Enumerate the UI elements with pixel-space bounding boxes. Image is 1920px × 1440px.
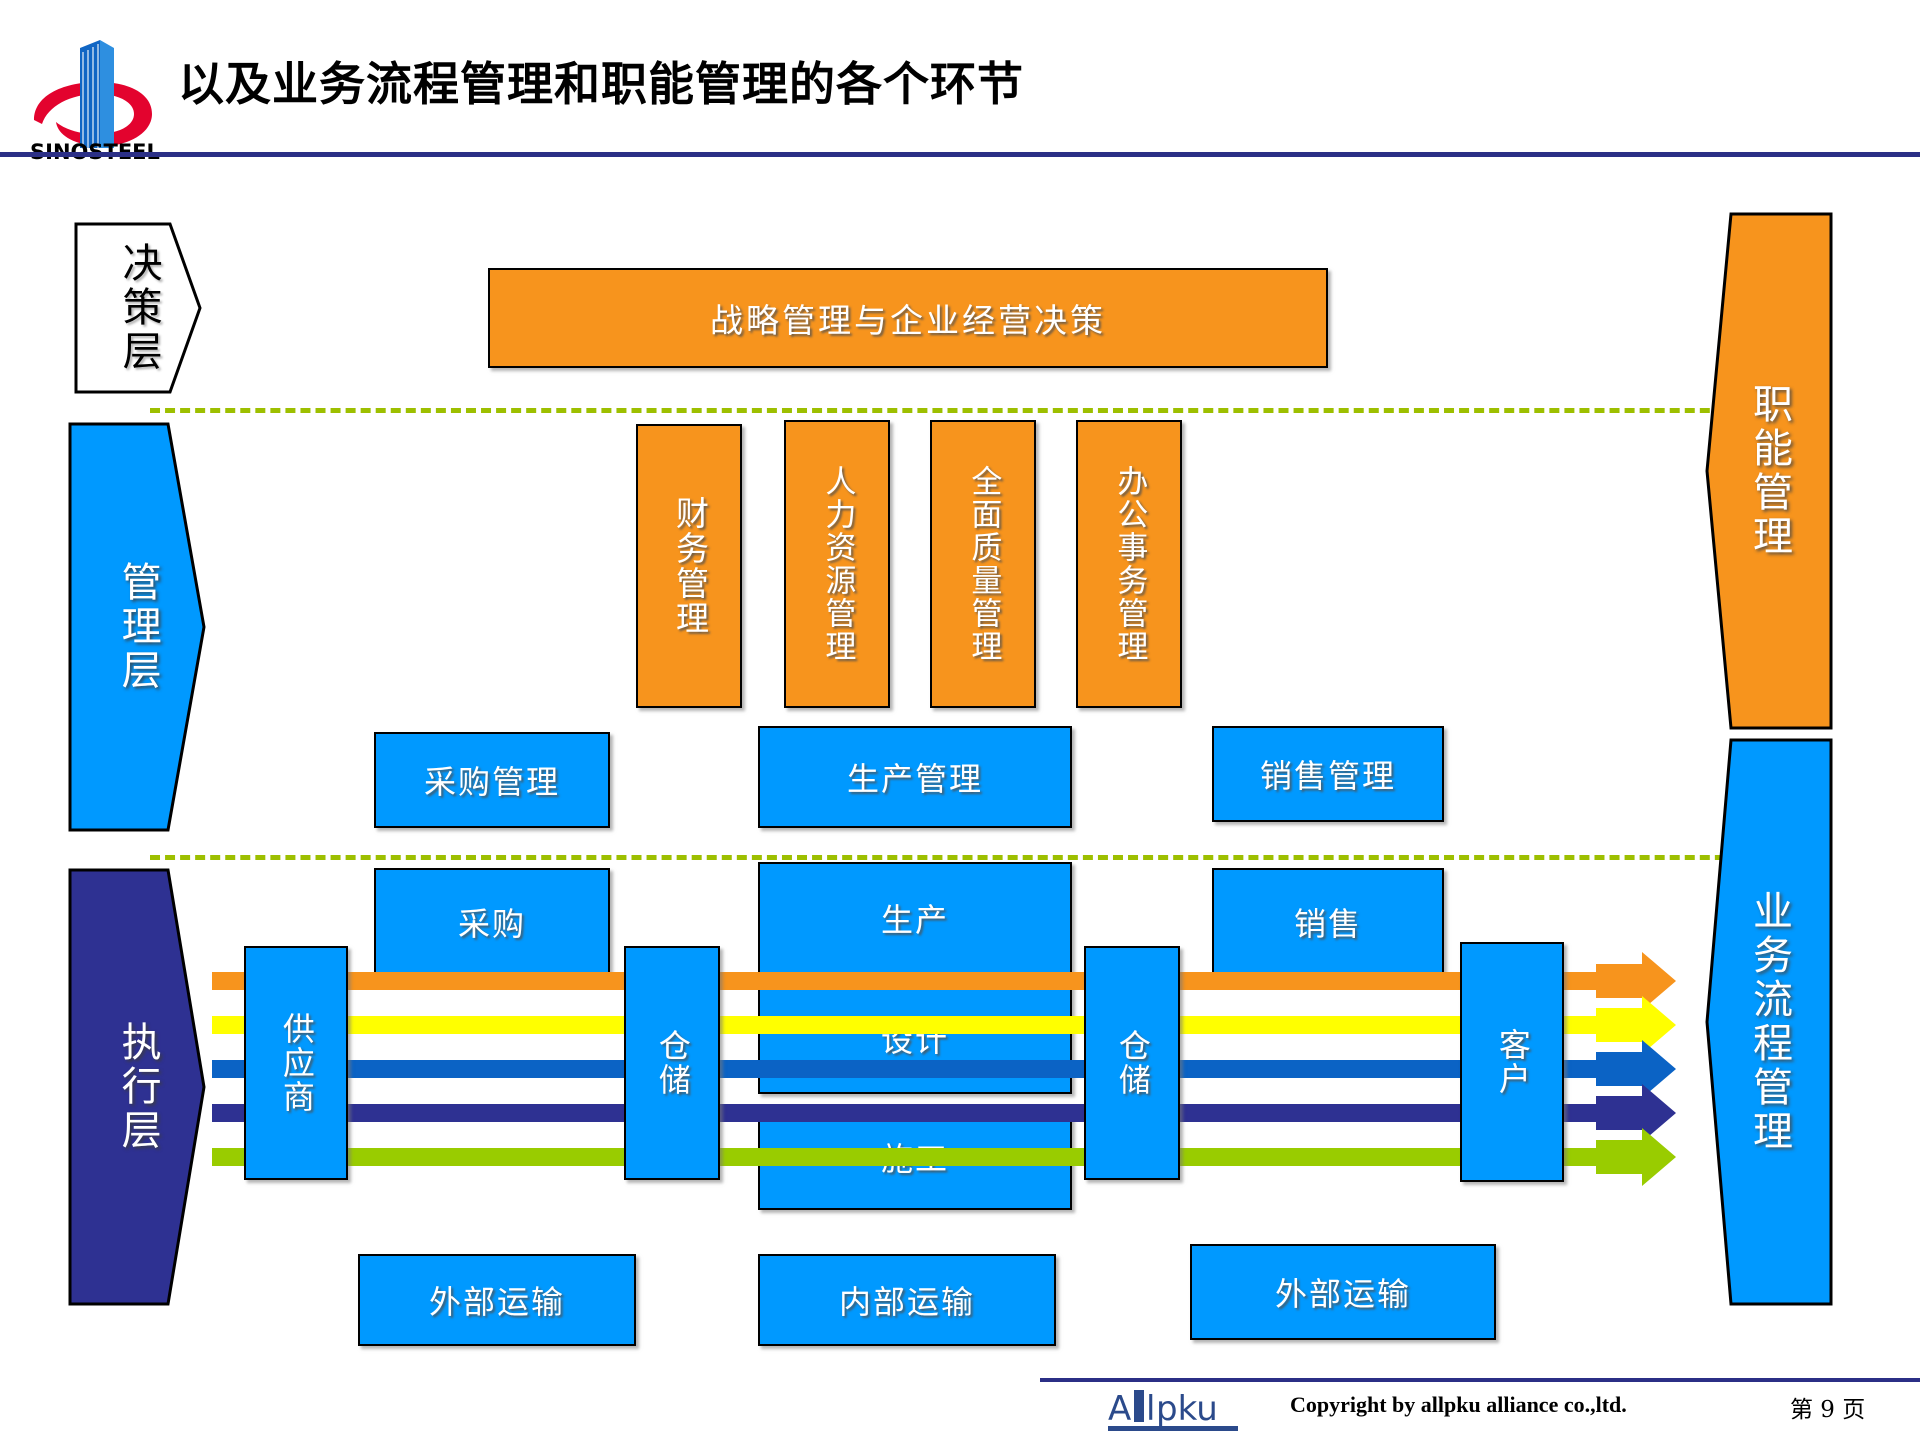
layer-execution-label: 执行层 [113,1021,160,1153]
footer-divider [1040,1378,1920,1382]
flow-arrow-green [1596,1128,1676,1191]
process-box-sales[interactable]: 销售 [1212,868,1444,976]
right-layer-process[interactable]: 业务流程管理 [1705,738,1833,1306]
right-layer-functional[interactable]: 职能管理 [1705,212,1833,730]
layer-decision[interactable]: 决策层 [74,222,202,394]
node-box-warehouse-in-label: 仓储 [654,1029,690,1097]
flow-line-green [212,1148,1624,1166]
flow-line-yellow [212,1016,1624,1034]
layer-management[interactable]: 管理层 [68,422,206,832]
transport-box-external-left[interactable]: 外部运输 [358,1254,636,1346]
flow-line-blue [212,1060,1624,1078]
management-box-production-label: 生产管理 [847,754,983,800]
management-box-sales-label: 销售管理 [1260,751,1396,797]
management-box-sales[interactable]: 销售管理 [1212,726,1444,822]
management-box-procurement-label: 采购管理 [424,757,560,803]
node-box-supplier-label: 供应商 [278,1012,314,1114]
sinosteel-logo: SINOSTEEL [18,28,168,160]
page-number: 第 9 页 [1790,1390,1865,1424]
svg-text:pku: pku [1156,1389,1218,1429]
transport-box-external-left-label: 外部运输 [429,1277,565,1323]
function-box-office[interactable]: 办公事务管理 [1076,420,1182,708]
process-box-production[interactable]: 生产 [758,862,1072,974]
sinosteel-wordmark: SINOSTEEL [30,140,160,160]
right-layer-process-label: 业务流程管理 [1745,890,1793,1154]
slide-canvas: SINOSTEEL 以及业务流程管理和职能管理的各个环节 决策层 管理层 执行层… [0,0,1920,1440]
copyright-text: Copyright by allpku alliance co.,ltd. [1290,1392,1627,1418]
flow-line-navy [212,1104,1624,1122]
strategy-box[interactable]: 战略管理与企业经营决策 [488,268,1328,368]
management-box-production[interactable]: 生产管理 [758,726,1072,828]
process-box-procurement-label: 采购 [458,899,526,945]
allpku-logo: A l pku [1108,1386,1268,1434]
function-box-quality[interactable]: 全面质量管理 [930,420,1036,708]
right-layer-functional-label: 职能管理 [1745,383,1793,559]
transport-box-external-right[interactable]: 外部运输 [1190,1244,1496,1340]
svg-text:l: l [1146,1389,1155,1429]
strategy-box-label: 战略管理与企业经营决策 [710,294,1106,342]
function-box-office-label: 办公事务管理 [1112,465,1147,663]
node-box-customer-label: 客户 [1494,1028,1530,1096]
flow-line-orange [212,972,1624,990]
node-box-warehouse-in[interactable]: 仓储 [624,946,720,1180]
management-box-procurement[interactable]: 采购管理 [374,732,610,828]
layer-separator-bottom [150,855,1770,860]
layer-management-label: 管理层 [113,561,160,693]
layer-execution[interactable]: 执行层 [68,868,206,1306]
node-box-warehouse-out[interactable]: 仓储 [1084,946,1180,1180]
function-box-finance[interactable]: 财务管理 [636,424,742,708]
process-box-production-label: 生产 [881,895,949,941]
function-box-hr-label: 人力资源管理 [820,465,855,663]
process-box-sales-label: 销售 [1294,899,1362,945]
node-box-customer[interactable]: 客户 [1460,942,1564,1182]
node-box-supplier[interactable]: 供应商 [244,946,348,1180]
transport-box-internal[interactable]: 内部运输 [758,1254,1056,1346]
function-box-quality-label: 全面质量管理 [966,465,1001,663]
layer-separator-top [150,408,1770,413]
node-box-warehouse-out-label: 仓储 [1114,1029,1150,1097]
function-box-finance-label: 财务管理 [671,496,708,636]
function-box-hr[interactable]: 人力资源管理 [784,420,890,708]
title-divider [0,152,1920,157]
transport-box-external-right-label: 外部运输 [1275,1269,1411,1315]
page-title: 以及业务流程管理和职能管理的各个环节 [178,48,1024,114]
process-box-procurement[interactable]: 采购 [374,868,610,976]
layer-decision-label: 决策层 [114,242,161,374]
transport-box-internal-label: 内部运输 [839,1277,975,1323]
svg-text:A: A [1108,1389,1131,1429]
